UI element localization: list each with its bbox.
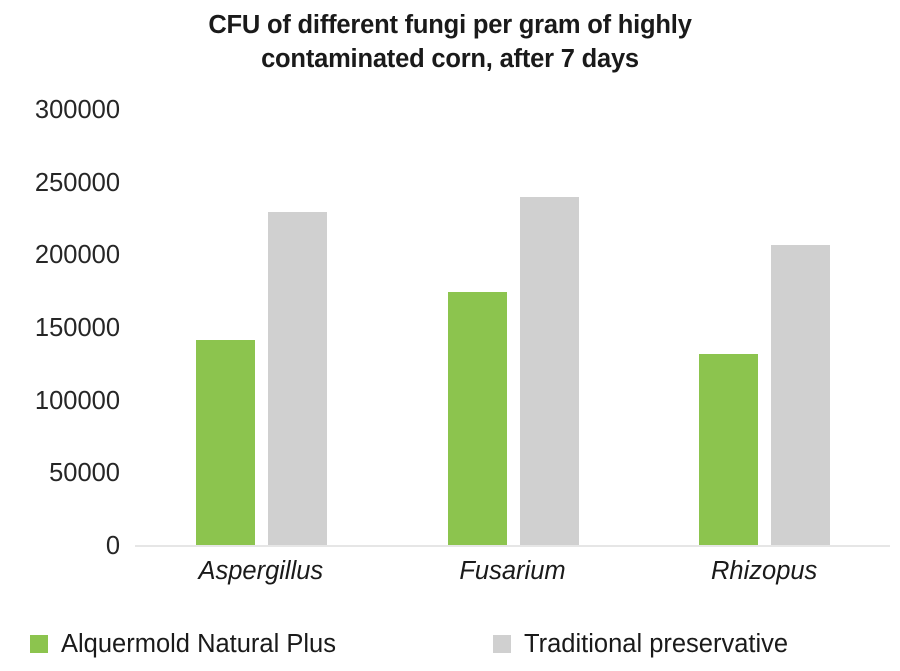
chart-title: CFU of different fungi per gram of highl…	[60, 8, 840, 76]
y-axis-tick-label: 150000	[0, 315, 120, 341]
bar-rhizopus-series-1[interactable]	[771, 245, 830, 546]
x-axis-category-labels: AspergillusFusariumRhizopus	[135, 553, 890, 597]
x-axis-label-aspergillus: Aspergillus	[135, 553, 387, 589]
bar-group	[638, 110, 890, 546]
bar-groups	[135, 110, 890, 546]
bar-aspergillus-series-1[interactable]	[268, 212, 327, 546]
y-axis-tick-label: 250000	[0, 170, 120, 196]
bar-group	[387, 110, 639, 546]
x-axis-line	[135, 545, 890, 547]
legend-swatch-icon	[493, 635, 511, 653]
chart-title-line-1: CFU of different fungi per gram of highl…	[60, 8, 840, 42]
legend-swatch-icon	[30, 635, 48, 653]
y-axis-tick-label: 200000	[0, 242, 120, 268]
x-axis-label-fusarium: Fusarium	[387, 553, 639, 589]
y-axis-tick-label: 300000	[0, 97, 120, 123]
plot-area	[135, 110, 890, 547]
legend-item[interactable]: Alquermold Natural Plus	[30, 624, 336, 664]
bar-fusarium-series-1[interactable]	[520, 197, 579, 546]
bar-group	[135, 110, 387, 546]
chart-legend: Alquermold Natural PlusTraditional prese…	[0, 624, 900, 668]
y-axis-tick-label: 50000	[0, 460, 120, 486]
y-axis-tick-labels: 050000100000150000200000250000300000	[0, 110, 120, 547]
x-axis-label-rhizopus: Rhizopus	[638, 553, 890, 589]
legend-label: Alquermold Natural Plus	[61, 629, 336, 659]
bar-chart: CFU of different fungi per gram of highl…	[0, 0, 900, 671]
legend-item[interactable]: Traditional preservative	[493, 624, 788, 664]
bar-fusarium-series-0[interactable]	[448, 292, 507, 546]
y-axis-tick-label: 0	[0, 533, 120, 559]
legend-label: Traditional preservative	[524, 629, 788, 659]
bar-aspergillus-series-0[interactable]	[196, 340, 255, 546]
bar-rhizopus-series-0[interactable]	[699, 354, 758, 546]
chart-title-line-2: contaminated corn, after 7 days	[60, 42, 840, 76]
y-axis-tick-label: 100000	[0, 388, 120, 414]
